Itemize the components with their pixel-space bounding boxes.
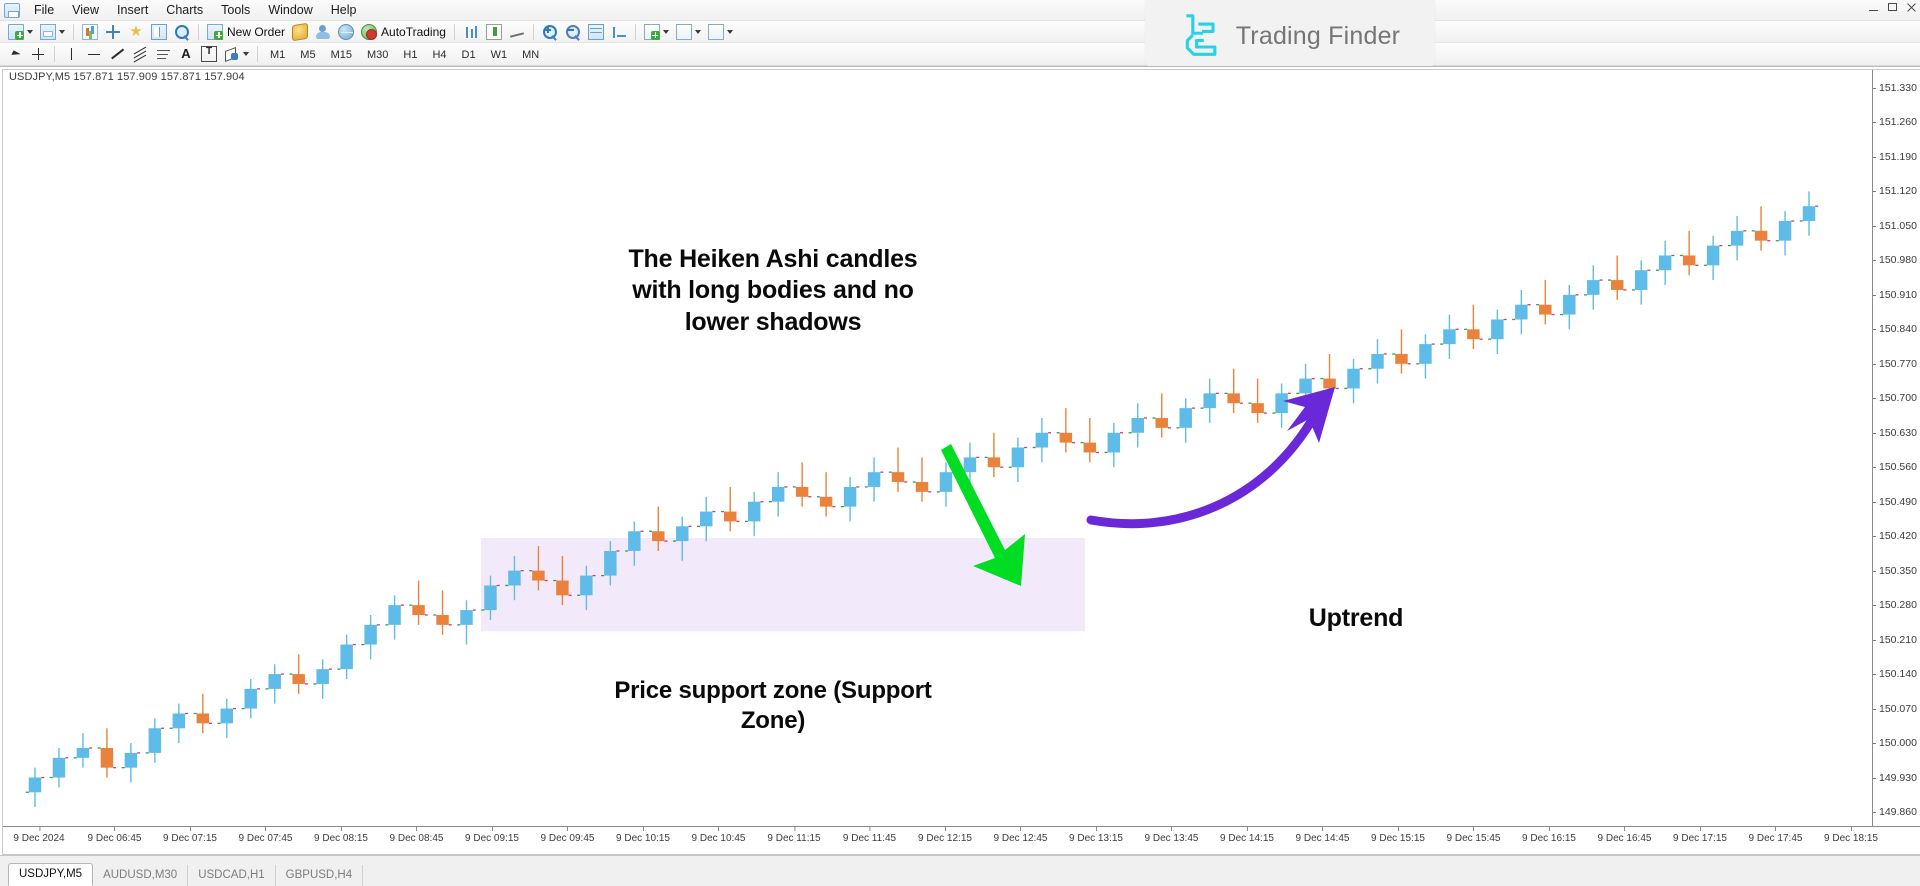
time-tick: 9 Dec 06:45: [88, 833, 142, 844]
purple-arrow-head: [1283, 387, 1335, 443]
time-tick: 9 Dec 17:45: [1749, 833, 1803, 844]
time-tick: 9 Dec 14:15: [1220, 833, 1274, 844]
candle-body: [412, 605, 424, 615]
menu-item-file[interactable]: File: [25, 1, 63, 20]
navigator-icon: [105, 24, 121, 40]
line-chart-icon: [509, 24, 525, 40]
candle-body: [844, 487, 856, 507]
candle-body: [724, 512, 736, 522]
menu-item-insert[interactable]: Insert: [108, 1, 157, 20]
price-tick: 150.420: [1873, 530, 1920, 542]
chart-tab[interactable]: GBPUSD,H4: [276, 865, 363, 886]
price-tick: 150.840: [1873, 323, 1920, 335]
trading-finder-logo: [1180, 13, 1224, 59]
price-axis[interactable]: 151.330151.260151.190151.120151.050150.9…: [1872, 70, 1920, 830]
time-tick: 9 Dec 15:45: [1447, 833, 1501, 844]
metaeditor-icon: [292, 22, 308, 40]
price-tick: 150.490: [1873, 496, 1920, 508]
green-arrow-annotation: [933, 438, 1083, 598]
close-button[interactable]: [1906, 2, 1917, 13]
bar-chart-icon: [463, 24, 479, 40]
line-chart-button[interactable]: [506, 22, 528, 41]
candle-body: [245, 689, 257, 709]
new-chart-icon: [8, 24, 24, 40]
chart-tab[interactable]: AUDUSD,M30: [93, 865, 188, 886]
templates-button[interactable]: [705, 22, 736, 41]
candle-body: [868, 472, 880, 487]
data-window-button[interactable]: [171, 22, 193, 41]
horizontal-line-button[interactable]: [83, 45, 105, 64]
time-tick: 9 Dec 2024: [13, 833, 64, 844]
price-tick: 151.330: [1873, 82, 1920, 94]
toolbar-separator: [454, 24, 455, 40]
time-tick: 9 Dec 16:45: [1598, 833, 1652, 844]
chart-tab[interactable]: USDCAD,H1: [188, 865, 275, 886]
templates-icon: [708, 24, 724, 40]
time-tick: 9 Dec 13:45: [1145, 833, 1199, 844]
price-tick: 151.190: [1873, 151, 1920, 163]
chart-tab[interactable]: USDJPY,M5: [8, 863, 93, 886]
profiles-button[interactable]: [37, 22, 68, 41]
objects-list-icon: [224, 46, 240, 62]
toolbar-separator: [198, 24, 199, 40]
candle-body: [796, 487, 808, 497]
time-tick: 9 Dec 12:15: [918, 833, 972, 844]
candle-body: [340, 645, 352, 670]
price-tick: 149.930: [1873, 772, 1920, 784]
metaeditor-button[interactable]: [289, 22, 311, 41]
candle-body: [388, 605, 400, 625]
price-tick: 150.070: [1873, 703, 1920, 715]
equidistant-channel-button[interactable]: [152, 45, 174, 64]
time-tick: 9 Dec 16:15: [1522, 833, 1576, 844]
standard-toolbar: ★ New Order AutoTrading: [0, 21, 1920, 43]
candle-body: [1683, 255, 1695, 265]
timeframe-m5[interactable]: M5: [293, 45, 322, 63]
time-tick: 9 Dec 09:15: [465, 833, 519, 844]
price-tick: 150.700: [1873, 392, 1920, 404]
price-tick: 150.140: [1873, 668, 1920, 680]
indicators-icon: [644, 24, 660, 40]
time-tick: 9 Dec 12:45: [994, 833, 1048, 844]
metatrader-window: File View Insert Charts Tools Window Hel…: [0, 0, 1920, 886]
new-order-button[interactable]: New Order: [204, 22, 288, 41]
candle-body: [292, 674, 304, 684]
zoom-in-icon: [542, 24, 558, 40]
periods-icon: [676, 24, 692, 40]
price-tick: 150.280: [1873, 599, 1920, 611]
candle-body: [1635, 270, 1647, 290]
globe-button[interactable]: [335, 22, 357, 41]
chart-shift-icon: [588, 24, 604, 40]
crosshair-button[interactable]: [27, 45, 49, 64]
fibonacci-retracement-icon: [132, 46, 148, 62]
price-tick: 151.050: [1873, 220, 1920, 232]
price-tick: 150.000: [1873, 737, 1920, 749]
autotrading-icon: [361, 24, 377, 40]
chevron-down-icon[interactable]: [727, 30, 733, 34]
price-tick: 150.910: [1873, 289, 1920, 301]
equidistant-channel-icon: [155, 46, 171, 62]
candle-body: [1659, 255, 1671, 270]
crosshair-icon: [30, 46, 46, 62]
chevron-down-icon[interactable]: [59, 30, 65, 34]
price-tick: 150.770: [1873, 358, 1920, 370]
horizontal-line-icon: [86, 46, 102, 62]
fibonacci-button[interactable]: [129, 45, 151, 64]
menu-item-help[interactable]: Help: [322, 1, 366, 20]
candlestick-chart-button[interactable]: [483, 22, 505, 41]
periods-button[interactable]: [673, 22, 704, 41]
profiles-icon: [40, 24, 56, 40]
purple-arrow-curve: [1091, 415, 1315, 524]
candle-body: [149, 728, 161, 753]
candlestick-chart-icon: [486, 24, 502, 40]
time-axis[interactable]: 9 Dec 20249 Dec 06:459 Dec 07:159 Dec 07…: [3, 826, 1920, 854]
time-tick: 9 Dec 11:45: [843, 833, 896, 844]
experts-icon: [315, 24, 331, 40]
time-tick: 9 Dec 15:15: [1371, 833, 1425, 844]
menu-item-window[interactable]: Window: [259, 1, 321, 20]
candle-body: [1491, 319, 1503, 339]
candle-body: [700, 512, 712, 527]
vertical-line-button[interactable]: [60, 45, 82, 64]
candle-body: [1371, 354, 1383, 369]
time-tick: 9 Dec 08:45: [390, 833, 444, 844]
window-controls: [1868, 2, 1917, 13]
candle-body: [1467, 329, 1479, 339]
price-tick: 150.210: [1873, 634, 1920, 646]
toolbar-separator: [54, 46, 55, 62]
candle-body: [628, 531, 640, 551]
trading-finder-branding: Trading Finder: [1145, 0, 1435, 72]
timeframe-m1[interactable]: M1: [263, 45, 292, 63]
menu-item-charts[interactable]: Charts: [157, 1, 212, 20]
price-tick: 149.860: [1873, 806, 1920, 818]
bar-chart-button[interactable]: [460, 22, 482, 41]
candle-body: [1587, 280, 1599, 295]
candle-body: [604, 551, 616, 576]
navigator-button[interactable]: [102, 22, 124, 41]
candle-body: [1395, 354, 1407, 364]
time-tick: 9 Dec 17:15: [1673, 833, 1727, 844]
market-watch-icon: [82, 24, 98, 40]
candle-body: [892, 472, 904, 482]
candle-body: [364, 625, 376, 645]
candle-body: [772, 487, 784, 502]
candle-body: [1755, 231, 1767, 241]
brand-name: Trading Finder: [1236, 22, 1400, 51]
candle-body: [580, 576, 592, 596]
candle-body: [748, 502, 760, 522]
candle-body: [1707, 246, 1719, 266]
strategy-tester-button[interactable]: [148, 22, 170, 41]
menu-item-tools[interactable]: Tools: [212, 1, 259, 20]
candle-body: [1443, 329, 1455, 344]
heiken-ashi-annotation: The Heiken Ashi candles with long bodies…: [603, 244, 943, 338]
candle-body: [1779, 221, 1791, 241]
candle-body: [820, 497, 832, 507]
price-tick: 151.260: [1873, 116, 1920, 128]
strategy-tester-icon: [151, 24, 167, 40]
zoom-in-button[interactable]: [539, 22, 561, 41]
time-tick: 9 Dec 10:15: [616, 833, 670, 844]
price-tick: 150.980: [1873, 254, 1920, 266]
chevron-down-icon[interactable]: [663, 30, 669, 34]
candle-body: [316, 669, 328, 684]
time-tick: 9 Dec 11:15: [767, 833, 820, 844]
candle-body: [1731, 231, 1743, 246]
candle-body: [221, 709, 233, 724]
price-tick: 150.630: [1873, 427, 1920, 439]
objects-list-button[interactable]: [221, 45, 252, 64]
chevron-down-icon[interactable]: [695, 30, 701, 34]
indicators-button[interactable]: [641, 22, 672, 41]
cursor-icon: [11, 50, 20, 58]
candle-body: [652, 531, 664, 541]
autotrading-label: AutoTrading: [381, 25, 446, 39]
candle-body: [1539, 305, 1551, 315]
toolbar-separator: [73, 24, 74, 40]
candle-body: [1803, 206, 1815, 221]
candle-body: [556, 581, 568, 596]
text-button[interactable]: A: [175, 45, 197, 64]
vertical-line-icon: [63, 46, 79, 62]
price-tick: 150.350: [1873, 565, 1920, 577]
candle-body: [532, 571, 544, 581]
toolbar-separator: [635, 24, 636, 40]
new-order-icon: [207, 24, 223, 40]
trendline-icon: [109, 46, 125, 62]
time-tick: 9 Dec 07:45: [239, 833, 293, 844]
chart-quote-line: USDJPY,M5 157.871 157.909 157.871 157.90…: [9, 71, 245, 83]
terminal-button[interactable]: ★: [125, 22, 147, 41]
price-tick: 150.560: [1873, 461, 1920, 473]
zoom-out-button[interactable]: [562, 22, 584, 41]
candle-body: [77, 748, 89, 758]
time-tick: 9 Dec 07:15: [163, 833, 217, 844]
menu-item-view[interactable]: View: [63, 1, 108, 20]
time-tick: 9 Dec 08:15: [314, 833, 368, 844]
chevron-down-icon[interactable]: [27, 30, 33, 34]
timeframe-h4[interactable]: H4: [425, 45, 453, 63]
chart-shift-button[interactable]: [585, 22, 607, 41]
chevron-down-icon[interactable]: [243, 52, 249, 56]
new-order-label: New Order: [227, 25, 285, 39]
chart-window[interactable]: USDJPY,M5 157.871 157.909 157.871 157.90…: [0, 66, 1920, 855]
maximize-button[interactable]: [1887, 2, 1898, 13]
timeframe-mn[interactable]: MN: [515, 45, 546, 63]
text-icon: A: [178, 46, 194, 62]
text-label-icon: [201, 46, 217, 62]
autotrading-button[interactable]: AutoTrading: [358, 22, 449, 41]
candle-body: [1611, 280, 1623, 290]
candle-body: [197, 713, 209, 723]
globe-icon: [338, 24, 354, 40]
timeframe-m15[interactable]: M15: [324, 45, 359, 63]
candle-body: [53, 758, 65, 778]
candle-body: [1563, 295, 1575, 315]
chart-canvas[interactable]: USDJPY,M5 157.871 157.909 157.871 157.90…: [2, 69, 1920, 855]
toolbar-separator: [257, 46, 258, 62]
auto-scroll-button[interactable]: [608, 22, 630, 41]
line-studies-toolbar: A M1 M5 M15 M30 H1 H4 D1 W1 MN: [0, 43, 1920, 66]
toolbar-separator: [533, 24, 534, 40]
candle-body: [125, 753, 137, 768]
price-tick: 151.120: [1873, 185, 1920, 197]
terminal-icon: ★: [128, 24, 144, 40]
candle-body: [1515, 305, 1527, 320]
auto-scroll-icon: [611, 24, 627, 40]
timeframe-d1[interactable]: D1: [455, 45, 483, 63]
experts-button[interactable]: [312, 22, 334, 41]
support-zone-annotation: Price support zone (Support Zone): [603, 676, 943, 736]
candle-body: [29, 778, 41, 793]
market-watch-button[interactable]: [79, 22, 101, 41]
new-chart-button[interactable]: [5, 22, 36, 41]
zoom-out-icon: [565, 24, 581, 40]
candle-body: [676, 526, 688, 541]
time-tick: 9 Dec 14:45: [1296, 833, 1350, 844]
timeframe-m30[interactable]: M30: [360, 45, 395, 63]
uptrend-annotation: Uptrend: [1271, 603, 1441, 634]
candle-body: [916, 482, 928, 492]
time-tick: 9 Dec 09:45: [541, 833, 595, 844]
chart-tabs-bar: USDJPY,M5AUDUSD,M30USDCAD,H1GBPUSD,H4: [0, 855, 1920, 886]
trendline-button[interactable]: [106, 45, 128, 64]
time-tick: 9 Dec 13:15: [1069, 833, 1123, 844]
menu-bar: File View Insert Charts Tools Window Hel…: [0, 0, 1920, 21]
time-tick: 9 Dec 18:15: [1824, 833, 1878, 844]
green-arrow-shape: [941, 444, 1025, 586]
timeframe-h1[interactable]: H1: [396, 45, 424, 63]
timeframe-w1[interactable]: W1: [484, 45, 515, 63]
time-tick: 9 Dec 10:45: [692, 833, 746, 844]
candle-body: [268, 674, 280, 689]
candle-body: [173, 713, 185, 728]
data-window-icon: [174, 24, 190, 40]
minimize-button[interactable]: [1868, 2, 1879, 13]
metatrader-icon: [4, 3, 20, 18]
candle-body: [484, 585, 496, 610]
candle-body: [508, 571, 520, 586]
candle-body: [101, 748, 113, 768]
candle-body: [1419, 344, 1431, 364]
cursor-button[interactable]: [6, 45, 26, 64]
text-label-button[interactable]: [198, 45, 220, 64]
candle-body: [436, 615, 448, 625]
candle-body: [460, 610, 472, 625]
